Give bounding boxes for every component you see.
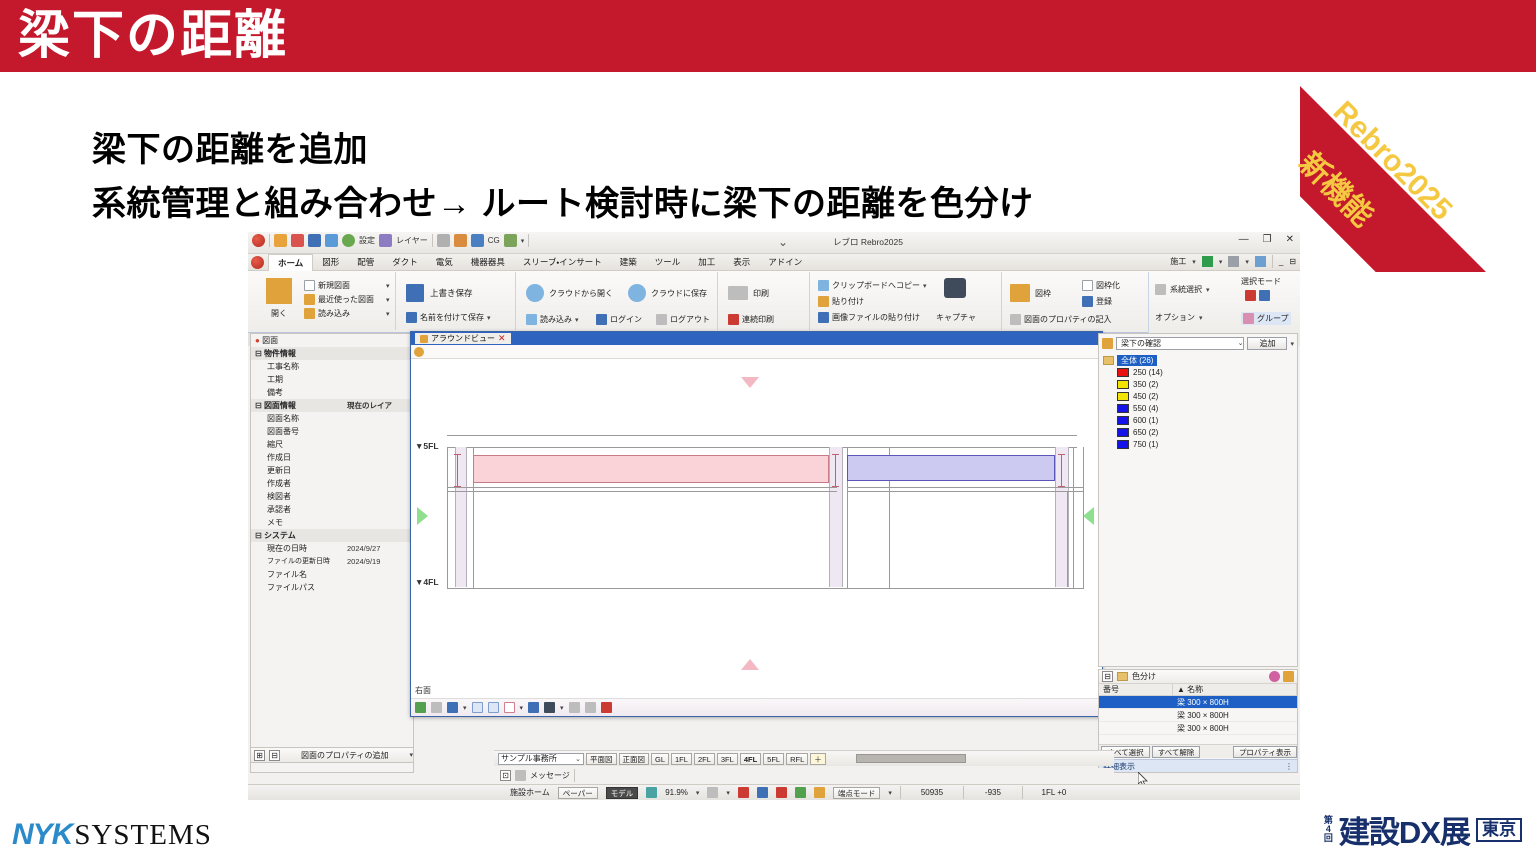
- login-item[interactable]: ログイン: [596, 314, 642, 325]
- group-icon: [1243, 313, 1254, 324]
- tab-electric[interactable]: 電気: [427, 254, 462, 271]
- print-label: 印刷: [753, 288, 769, 299]
- system-select-item[interactable]: 系統選択 ▾: [1155, 284, 1210, 295]
- chevron-down-icon-snap[interactable]: ▾: [888, 789, 892, 797]
- collapse-icon[interactable]: ⊟: [1102, 671, 1113, 682]
- tree-item[interactable]: 650 (2): [1103, 426, 1297, 438]
- view-tab-3fl[interactable]: 3FL: [717, 753, 738, 765]
- layer-icon[interactable]: [379, 234, 392, 247]
- table-row[interactable]: 梁 300 × 800H: [1099, 696, 1297, 709]
- measure-icon[interactable]: [437, 234, 450, 247]
- ribbon-group-cloud: クラウドから開く クラウドに保存 読み込み ▾ ログイン ログアウト: [518, 272, 718, 330]
- nav-arrow-right-icon[interactable]: [417, 507, 428, 525]
- lp-val-construction-name: [347, 360, 413, 373]
- lp-row-author[interactable]: 作成者: [251, 477, 413, 490]
- tree-item[interactable]: 750 (1): [1103, 438, 1297, 450]
- chevron-down-icon-dwgprop[interactable]: ▾: [409, 751, 413, 759]
- new-drawing-item[interactable]: 新規図面 ▾: [304, 280, 350, 291]
- lp-val-current-datetime: 2024/9/27: [347, 542, 413, 555]
- gear-icon[interactable]: [342, 234, 355, 247]
- printer-icon: [728, 286, 748, 300]
- pin-icon[interactable]: ⊡: [500, 770, 511, 781]
- chevron-down-icon-cloudimport[interactable]: ▾: [575, 316, 579, 324]
- chevron-down-icon-target[interactable]: ⌄: [1238, 338, 1244, 350]
- lp-val-scale: [347, 438, 413, 451]
- write-properties-label: 図面のプロパティの記入: [1024, 314, 1112, 325]
- show-properties-button[interactable]: プロパティ表示: [1233, 746, 1297, 758]
- register-item[interactable]: 登録: [1082, 296, 1112, 307]
- save-as-icon: [406, 312, 417, 323]
- lp-val-system: [347, 529, 413, 542]
- nav-arrow-left-icon[interactable]: [1083, 507, 1094, 525]
- recent-drawing-item[interactable]: 最近使った図面 ▾: [304, 294, 374, 305]
- camera-icon[interactable]: [544, 702, 555, 713]
- tab-tool[interactable]: ツール: [646, 254, 690, 271]
- snap-grid-icon[interactable]: [814, 787, 825, 798]
- save-as-item[interactable]: 名前を付けて保存 ▾: [406, 312, 491, 323]
- copy-to-clipboard-label: クリップボードへコピー: [832, 280, 920, 291]
- ribbon-group-print: 印刷 連続印刷: [720, 272, 810, 330]
- restore-ribbon-button[interactable]: ⊟: [1289, 257, 1296, 266]
- dimension-cap: [1058, 486, 1065, 487]
- cloud-open-item[interactable]: クラウドから開く: [526, 284, 613, 302]
- column-header-name[interactable]: ▲ 名称: [1173, 684, 1297, 695]
- chevron-down-icon-recent[interactable]: ▾: [386, 296, 390, 304]
- minimize-ribbon-button[interactable]: _: [1279, 257, 1283, 266]
- chevron-down-icon-redo[interactable]: ▾: [1245, 258, 1249, 266]
- lp-val-approver: [347, 503, 413, 516]
- dimension-cap: [1058, 454, 1065, 455]
- nyk-logo-word: SYSTEMS: [74, 819, 212, 852]
- walk-icon[interactable]: [488, 702, 499, 713]
- group-item[interactable]: グループ: [1241, 312, 1291, 325]
- dx-ordinal: 第 4 回: [1324, 816, 1333, 843]
- batch-print-label: 連続印刷: [742, 314, 774, 325]
- open-button-label[interactable]: 開く: [262, 308, 296, 319]
- register-label: 登録: [1096, 296, 1112, 307]
- import-label: 読み込み: [318, 308, 350, 319]
- cloud-save-item[interactable]: クラウドに保存: [628, 284, 707, 302]
- tree-item[interactable]: 450 (2): [1103, 390, 1297, 402]
- chevron-down-icon-rect[interactable]: ▾: [520, 704, 524, 712]
- paste-item[interactable]: 貼り付け: [818, 296, 864, 307]
- project-combo-value: サンプル事務所: [501, 753, 557, 764]
- lp-val-updated-date: [347, 464, 413, 477]
- dimension-cap: [832, 454, 839, 455]
- element-selection-controls: 梁下の確認 ⌄ 追加 ▾: [1099, 334, 1297, 353]
- save-icon[interactable]: [308, 234, 321, 247]
- tab-display[interactable]: 表示: [724, 254, 759, 271]
- around-view-icon: [420, 335, 428, 343]
- tree-item[interactable]: 350 (2): [1103, 378, 1297, 390]
- lp-row-file-name[interactable]: ファイル名: [251, 568, 413, 581]
- tree-item-label: 600 (1): [1133, 416, 1158, 425]
- kensetsu-dx-logo: 第 4 回 建設DX展 東京: [1324, 807, 1522, 852]
- lp-key-memo: メモ: [255, 516, 347, 529]
- view-tab-gl[interactable]: GL: [651, 753, 669, 765]
- lp-val-memo: [347, 516, 413, 529]
- lp-row-drawing-number[interactable]: 図面番号: [251, 425, 413, 438]
- paste-icon: [818, 296, 829, 307]
- color-swatch-icon: [1117, 428, 1129, 437]
- hand-pan-icon[interactable]: [414, 347, 424, 357]
- collapse-ribbon-icon[interactable]: ⌄: [778, 235, 788, 249]
- model-button[interactable]: モデル: [606, 787, 639, 799]
- beam-highlight-pink[interactable]: [473, 455, 829, 483]
- add-drawing-property-combo[interactable]: 図面のプロパティの追加: [284, 750, 405, 761]
- tree-item[interactable]: 550 (4): [1103, 402, 1297, 414]
- export-left-icon[interactable]: [569, 702, 580, 713]
- cg-icon[interactable]: [471, 234, 484, 247]
- lp-val-created-date: [347, 451, 413, 464]
- slide-header-band: 梁下の距離: [0, 0, 1536, 72]
- horizontal-scrollbar[interactable]: [856, 754, 966, 763]
- divider-status-2: [963, 786, 964, 799]
- paste-image-item[interactable]: 画像ファイルの貼り付け: [818, 312, 920, 323]
- logout-label: ログアウト: [670, 314, 710, 325]
- lp-row-file-path[interactable]: ファイルパス: [251, 581, 413, 594]
- view-tab-elevation[interactable]: 正面図: [619, 753, 650, 765]
- file-menu-icon[interactable]: [251, 256, 264, 269]
- lp-row-system-group[interactable]: ⊟ システム: [251, 529, 413, 542]
- tab-equipment[interactable]: 機器器具: [462, 254, 514, 271]
- dimension-marker: [457, 454, 458, 486]
- view-direction-icon[interactable]: [528, 702, 539, 713]
- lp-row-approver[interactable]: 承認者: [251, 503, 413, 516]
- capture-camera-icon[interactable]: [944, 278, 966, 298]
- dx-ordinal-suffix: 回: [1324, 834, 1333, 843]
- paste-image-label: 画像ファイルの貼り付け: [832, 312, 920, 323]
- cloud-upload-icon: [628, 284, 646, 302]
- chevron-down-icon-fly[interactable]: ▾: [463, 704, 467, 712]
- resize-grip-icon[interactable]: ⋮: [1285, 762, 1297, 771]
- color-swatch-icon: [1117, 440, 1129, 449]
- cg-label: CG: [488, 236, 500, 245]
- check-target-combo[interactable]: 梁下の確認 ⌄: [1116, 337, 1244, 350]
- login-label: ログイン: [610, 314, 642, 325]
- font-icon[interactable]: [291, 234, 304, 247]
- nav-arrow-up-icon[interactable]: [741, 659, 759, 670]
- subtitle-line-1: 梁下の距離を追加: [92, 122, 368, 171]
- chevron-down-icon-camera[interactable]: ▾: [560, 704, 564, 712]
- chevron-down-icon-project[interactable]: ⌄: [575, 755, 581, 763]
- coordinate-y: -935: [972, 788, 1014, 797]
- undo-icon[interactable]: [325, 234, 338, 247]
- tab-piping[interactable]: 配管: [348, 254, 383, 271]
- add-button[interactable]: 追加: [1247, 337, 1287, 350]
- ribbon-group-clipboard: クリップボードへコピー ▾ 貼り付け 画像ファイルの貼り付け キャプチャ: [812, 272, 1002, 330]
- write-properties-item[interactable]: 図面のプロパティの記入: [1010, 314, 1112, 325]
- tab-sleeve-insert[interactable]: スリーブ・インサート: [514, 254, 611, 271]
- view-tab-5fl[interactable]: 5FL: [763, 753, 784, 765]
- geom-line: [889, 491, 890, 587]
- overwrite-save-item[interactable]: 上書き保存: [406, 284, 473, 302]
- add-view-tab-button[interactable]: ＋: [810, 753, 826, 765]
- lp-key-current-datetime: 現在の日時: [255, 542, 347, 555]
- ribbon-group-save: 上書き保存 名前を付けて保存 ▾: [398, 272, 516, 330]
- copy-view-icon[interactable]: [431, 702, 442, 713]
- collapse-all-button[interactable]: ⊟: [269, 750, 280, 761]
- color-swatch-icon: [1117, 392, 1129, 401]
- remove-selection-icon[interactable]: [1259, 290, 1270, 301]
- color-list-title: 色分け: [1132, 671, 1156, 682]
- export-right-icon[interactable]: [585, 702, 596, 713]
- geom-line: [447, 487, 837, 488]
- geom-line: [447, 491, 837, 492]
- list-options-icon[interactable]: [1283, 671, 1294, 682]
- dimension-cap: [454, 486, 461, 487]
- lp-row-current-datetime[interactable]: 現在の日時 2024/9/27: [251, 542, 413, 555]
- chevron-down-icon-undo[interactable]: ▾: [1219, 258, 1223, 266]
- fly-view-icon[interactable]: [447, 702, 458, 713]
- message-label: メッセージ: [530, 770, 570, 781]
- color-group-tree: 全体 (26) 250 (14) 350 (2) 450 (2) 550 (4)…: [1099, 353, 1297, 450]
- cloud-download-icon: [526, 284, 544, 302]
- lp-key-created-date: 作成日: [255, 451, 347, 464]
- ribbon-group-selection: 系統選択 ▾ オプション ▾ 選択モード グループ: [1148, 272, 1300, 334]
- color-swatch-icon: [1117, 380, 1129, 389]
- quick-access-bar: 新規図面 設定 レイヤー CG ▾ ⌄ レブロ Rebro2025 — ❐ ✕: [248, 232, 1300, 254]
- open-icon[interactable]: [274, 234, 287, 247]
- lp-row-scale[interactable]: 縮尺: [251, 438, 413, 451]
- save-disk-icon: [406, 284, 424, 302]
- chevron-down-icon-lock[interactable]: ▾: [726, 789, 730, 797]
- close-icon[interactable]: ✕: [498, 333, 506, 344]
- geom-line: [847, 487, 1083, 488]
- dimension-marker: [835, 454, 836, 486]
- column-header-number[interactable]: 番号: [1099, 684, 1173, 695]
- import-icon: [304, 308, 315, 319]
- close-button[interactable]: ✕: [1286, 234, 1294, 245]
- lp-key-drawing-name: 図面名称: [255, 412, 347, 425]
- around-view-tab[interactable]: アラウンドビュー ✕: [414, 332, 512, 345]
- cloud-import-icon: [526, 314, 537, 325]
- subtitle-line-2: 系統管理と組み合わせ→ ルート検討時に梁下の距離を色分け: [92, 176, 1033, 225]
- lp-row-checker[interactable]: 検図者: [251, 490, 413, 503]
- detail-display-bar[interactable]: 詳細表示 ⋮: [1099, 759, 1297, 772]
- chevron-down-icon-construction[interactable]: ▾: [1192, 258, 1196, 266]
- around-view-titlebar[interactable]: アラウンドビュー ✕: [411, 332, 1102, 345]
- view-tab-2fl[interactable]: 2FL: [694, 753, 715, 765]
- dimension-marker: [1061, 454, 1062, 486]
- add-selection-icon[interactable]: [1245, 290, 1256, 301]
- chevron-down-icon[interactable]: ▾: [521, 237, 525, 245]
- house-icon[interactable]: [454, 234, 467, 247]
- view-toggle-icon[interactable]: [415, 702, 426, 713]
- snap-point-icon[interactable]: [757, 787, 768, 798]
- chevron-down-icon-add[interactable]: ▾: [1290, 340, 1294, 348]
- app-logo-icon[interactable]: [252, 234, 265, 247]
- lp-row-memo[interactable]: メモ: [251, 516, 413, 529]
- element-selection-panel: 梁下の確認 ⌄ 追加 ▾ 全体 (26) 250 (14) 350 (2) 45…: [1098, 333, 1298, 667]
- tab-home[interactable]: ホーム: [268, 254, 313, 271]
- tree-item[interactable]: 250 (14): [1103, 366, 1297, 378]
- lp-row-period[interactable]: 工期: [251, 373, 413, 386]
- misc-icon[interactable]: [504, 234, 517, 247]
- divider-status-1: [900, 786, 901, 799]
- logout-item[interactable]: ログアウト: [656, 314, 710, 325]
- divider-msg: [574, 769, 575, 782]
- make-frame-item[interactable]: 図枠化: [1082, 280, 1120, 291]
- lp-val-drawing-info: 現在のレイア: [347, 399, 413, 412]
- batch-print-icon: [728, 314, 739, 325]
- ribbon-body: 開く 新規図面 ▾ 最近使った図面 ▾ 読み込み ▾ 上書き保存: [248, 271, 1300, 333]
- table-row[interactable]: 梁 300 × 800H: [1099, 722, 1297, 735]
- settings-view-icon[interactable]: [601, 702, 612, 713]
- lp-key-file-path: ファイルパス: [255, 581, 347, 594]
- lp-key-period: 工期: [255, 373, 347, 386]
- coordinate-x: 50935: [909, 788, 955, 797]
- tab-shape[interactable]: 図形: [313, 254, 348, 271]
- lp-key-author: 作成者: [255, 477, 347, 490]
- rect-select-icon[interactable]: [504, 702, 515, 713]
- geom-column: [829, 447, 843, 587]
- dx-logo-city: 東京: [1476, 818, 1522, 842]
- chevron-down-icon-sysselect[interactable]: ▾: [1206, 286, 1210, 294]
- message-icon: [515, 770, 526, 781]
- nav-arrow-down-icon[interactable]: [741, 377, 759, 388]
- color-list-header: ⊟ 色分け: [1099, 670, 1297, 684]
- chevron-down-icon-option[interactable]: ▾: [1199, 314, 1203, 322]
- write-properties-icon: [1010, 314, 1021, 325]
- table-row[interactable]: 梁 300 × 800H: [1099, 709, 1297, 722]
- capture-label[interactable]: キャプチャ: [934, 312, 978, 323]
- color-wheel-icon[interactable]: [1269, 671, 1280, 682]
- chevron-down-icon-zoom[interactable]: ▾: [696, 789, 700, 797]
- tree-item[interactable]: 600 (1): [1103, 414, 1297, 426]
- divider-3: [528, 234, 529, 247]
- drawing-frame-item[interactable]: 図枠: [1010, 284, 1051, 302]
- divider-2: [432, 234, 433, 247]
- paper-button[interactable]: ペーパー: [558, 787, 598, 799]
- view-tab-1fl[interactable]: 1FL: [671, 753, 692, 765]
- print-preview-icon[interactable]: [1255, 256, 1266, 267]
- maximize-button[interactable]: ❐: [1263, 234, 1272, 245]
- zoom-level[interactable]: 91.9%: [665, 788, 688, 797]
- cloud-import-item[interactable]: 読み込み ▾: [526, 314, 579, 325]
- cell-number: [1099, 696, 1173, 708]
- snap-tri-icon[interactable]: [795, 787, 806, 798]
- tree-item-label: 650 (2): [1133, 428, 1158, 437]
- around-view-face-label: 右面: [415, 685, 431, 696]
- tree-item-label: 350 (2): [1133, 380, 1158, 389]
- chevron-down-icon-import[interactable]: ▾: [386, 310, 390, 318]
- view-tab-plan[interactable]: 平面図: [586, 753, 617, 765]
- chevron-down-icon-copy[interactable]: ▾: [923, 282, 927, 290]
- divider-status-3: [1022, 786, 1023, 799]
- geom-line: [1073, 447, 1074, 589]
- section-icon[interactable]: [472, 702, 483, 713]
- snap-mode-button[interactable]: 端点モード: [833, 787, 881, 799]
- chevron-down-icon-new[interactable]: ▾: [386, 282, 390, 290]
- lp-row-drawing-info-group[interactable]: ⊟ 図面情報 現在のレイア: [251, 399, 413, 412]
- clipboard-copy-icon: [818, 280, 829, 291]
- lp-row-remarks[interactable]: 備考: [251, 386, 413, 399]
- nyk-logo-mark: NYK: [12, 818, 72, 852]
- lp-key-remarks: 備考: [255, 386, 347, 399]
- around-view-canvas[interactable]: ▼5FL ▼4FL: [411, 359, 1102, 689]
- lp-key-drawing-info: 図面情報: [264, 401, 296, 410]
- geom-line: [447, 588, 1083, 589]
- cell-number: [1099, 722, 1173, 734]
- ribbon-tab-strip: ホーム 図形 配管 ダクト 電気 機器器具 スリーブ・インサート 建築 ツール …: [248, 254, 1300, 271]
- lock-icon[interactable]: [707, 787, 718, 798]
- color-list-footer: すべて選択 すべて解除 プロパティ表示: [1099, 744, 1297, 758]
- color-list-columns: 番号 ▲ 名称: [1099, 684, 1297, 696]
- dx-logo-main: 建設DX展: [1339, 807, 1470, 852]
- deselect-all-button[interactable]: すべて解除: [1152, 746, 1201, 758]
- make-frame-label: 図枠化: [1096, 280, 1120, 291]
- import-item[interactable]: 読み込み ▾: [304, 308, 350, 319]
- column-header-name-label: 名称: [1187, 685, 1203, 694]
- around-view-window: アラウンドビュー ✕ ▼5FL ▼4FL: [410, 331, 1103, 717]
- project-combo[interactable]: サンプル事務所 ⌄: [498, 753, 584, 765]
- cloud-import-label: 読み込み: [540, 314, 572, 325]
- select-mode-item[interactable]: 選択モード: [1241, 276, 1281, 287]
- construction-label[interactable]: 施工: [1170, 256, 1186, 267]
- cloud-save-label: クラウドに保存: [651, 288, 707, 299]
- undo-arrow-icon[interactable]: [1202, 256, 1213, 267]
- tree-item-label: 450 (2): [1133, 392, 1158, 401]
- tree-root-row[interactable]: 全体 (26): [1103, 355, 1297, 366]
- batch-print-item[interactable]: 連続印刷: [728, 314, 774, 325]
- cell-name: 梁 300 × 800H: [1173, 696, 1297, 708]
- expand-all-button[interactable]: ⊞: [254, 750, 265, 761]
- nyk-systems-logo: NYK SYSTEMS: [12, 818, 212, 852]
- chevron-down-icon-saveas[interactable]: ▾: [487, 314, 491, 322]
- tree-root-label: 全体 (26): [1117, 355, 1157, 366]
- snap-cross-icon[interactable]: [776, 787, 787, 798]
- tab-duct[interactable]: ダクト: [383, 254, 427, 271]
- open-file-icon[interactable]: [266, 278, 292, 304]
- status-bar: 施設ホーム ペーパー モデル 91.9% ▾ ▾ 端点モード ▾ 50935 -…: [248, 784, 1300, 800]
- view-tab-bar: サンプル事務所 ⌄ 平面図 正面図 GL 1FL 2FL 3FL 4FL 5FL…: [494, 750, 1114, 766]
- lp-row-created-date[interactable]: 作成日: [251, 451, 413, 464]
- around-view-tab-label: アラウンドビュー: [431, 333, 495, 344]
- window-title: レブロ Rebro2025: [833, 236, 903, 248]
- lp-row-updated-date[interactable]: 更新日: [251, 464, 413, 477]
- drawing-frame-icon: [1010, 284, 1030, 302]
- tab-addin[interactable]: アドイン: [759, 254, 811, 271]
- lp-key-drawing-number: 図面番号: [255, 425, 347, 438]
- beam-highlight-blue[interactable]: [847, 455, 1055, 481]
- lp-val-period: [347, 373, 413, 386]
- minimize-button[interactable]: —: [1239, 234, 1249, 245]
- lp-val-property: [347, 347, 413, 360]
- lp-key-system: システム: [264, 531, 296, 540]
- option-item[interactable]: オプション ▾: [1155, 312, 1203, 323]
- lp-row-construction-name[interactable]: 工事名称: [251, 360, 413, 373]
- redo-arrow-icon[interactable]: [1228, 256, 1239, 267]
- view-tab-4fl[interactable]: 4FL: [740, 753, 761, 765]
- view-mode-icon[interactable]: [646, 787, 657, 798]
- tab-processing[interactable]: 加工: [689, 254, 724, 271]
- layer-label: レイヤー: [396, 235, 428, 246]
- copy-to-clipboard-item[interactable]: クリップボードへコピー ▾: [818, 280, 927, 291]
- ribbon-tabs: ホーム 図形 配管 ダクト 電気 機器器具 スリーブ・インサート 建築 ツール …: [268, 254, 811, 271]
- select-mode-label: 選択モード: [1241, 276, 1281, 287]
- cloud-open-label: クラウドから開く: [549, 288, 613, 299]
- tab-architecture[interactable]: 建築: [611, 254, 646, 271]
- error-icon[interactable]: [738, 787, 749, 798]
- paste-image-icon: [818, 312, 829, 323]
- view-tab-rfl[interactable]: RFL: [786, 753, 808, 765]
- lp-row-drawing[interactable]: ● 図面: [251, 334, 413, 347]
- print-item[interactable]: 印刷: [728, 286, 769, 300]
- lp-row-drawing-name[interactable]: 図面名称: [251, 412, 413, 425]
- lp-row-property-group[interactable]: ⊟ 物件情報: [251, 347, 413, 360]
- lp-row-file-updated[interactable]: ファイルの更新日時 2024/9/19: [251, 555, 413, 568]
